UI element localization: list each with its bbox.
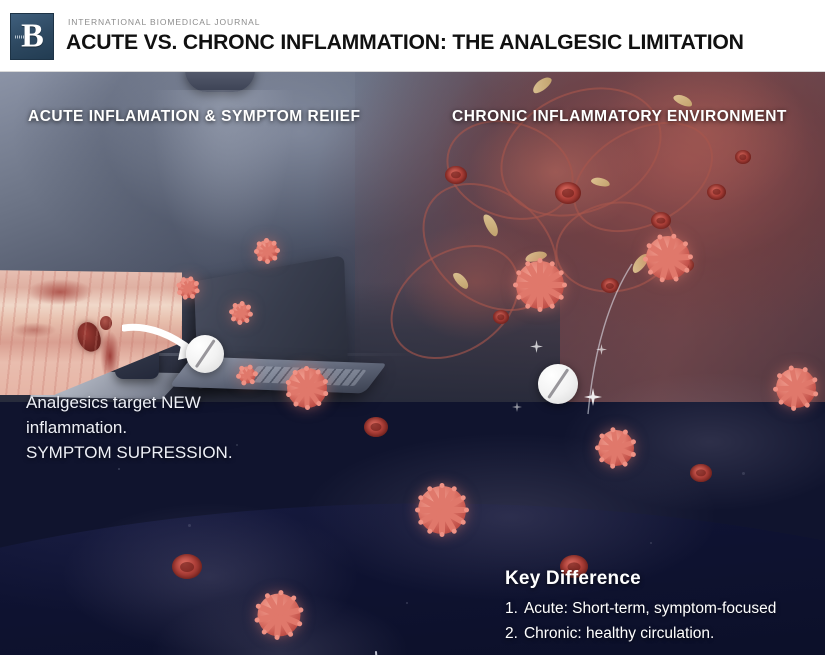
list-item-text: Chronic: healthy circulation.: [524, 625, 714, 642]
red-blood-cell: [707, 184, 726, 200]
body-copy-line-1: Analgesics target NEW: [26, 390, 233, 415]
virus-particle: [246, 230, 288, 272]
body-copy-line-2: inflammation.: [26, 415, 233, 440]
bacteria-icon: [530, 74, 553, 95]
red-blood-cell: [555, 182, 581, 204]
dust-particle: [118, 468, 120, 470]
pill-tablet-icon: [186, 335, 224, 373]
list-item-text: Acute: Short-term, symptom-focused: [524, 600, 776, 617]
page-title: ACUTE VS. CHRONC INFLAMMATION: THE ANALG…: [66, 30, 744, 55]
blood-vessel-small: [100, 316, 112, 330]
red-blood-cell: [690, 464, 712, 482]
body-copy-line-3: SYMPTOM SUPRESSION.: [26, 440, 233, 465]
virus-particle-large: [492, 237, 588, 333]
dust-particle: [650, 542, 652, 544]
pointer-line: [580, 262, 640, 422]
key-difference-list: 1.Acute: Short-term, symptom-focused 2.C…: [505, 596, 825, 646]
chronic-panel-label: CHRONIC INFLAMMATORY ENVIRONMENT: [452, 108, 787, 126]
dust-particle: [406, 602, 408, 604]
virus-particle: [230, 358, 264, 392]
key-difference-block: Key Difference 1.Acute: Short-term, symp…: [505, 568, 825, 646]
acute-panel-label: ACUTE INFLAMATION & SYMPTOM REIIEF: [28, 108, 360, 126]
virus-particle: [580, 412, 652, 484]
key-difference-title: Key Difference: [505, 568, 825, 590]
virus-particle-large: [268, 349, 346, 427]
virus-particle-large: [394, 462, 490, 558]
virus-particle: [222, 294, 260, 332]
red-blood-cell: [735, 150, 751, 164]
dust-particle: [236, 444, 238, 446]
pill-tablet-icon: [538, 364, 578, 404]
blood-vessel: [74, 320, 103, 355]
bacteria-icon: [672, 92, 694, 108]
dust-particle: [188, 524, 191, 527]
journal-name: INTERNATIONAL BIOMEDICAL JOURNAL: [68, 17, 754, 27]
red-blood-cell: [364, 417, 388, 437]
red-blood-cell: [172, 554, 202, 579]
virus-particle: [168, 268, 208, 308]
virus-particle: [756, 348, 825, 428]
list-item-number: 2.: [505, 625, 518, 642]
infographic-page: B INTERNATIONAL BIOMEDICAL JOURNAL ACUTE…: [0, 0, 825, 655]
desk-lamp-icon: [185, 72, 255, 92]
virus-particle-large: [236, 572, 322, 655]
red-blood-cell: [445, 166, 467, 184]
journal-logo: B: [10, 13, 54, 60]
list-item-number: 1.: [505, 600, 518, 617]
dust-particle: [742, 472, 745, 475]
list-item: 2.Chronic: healthy circulation.: [505, 621, 825, 646]
header-bar: B INTERNATIONAL BIOMEDICAL JOURNAL ACUTE…: [0, 0, 825, 72]
curved-arrow-up-right-icon: [370, 650, 490, 655]
illustration-scene: ACUTE INFLAMATION & SYMPTOM REIIEF CHRON…: [0, 72, 825, 655]
analgesic-body-copy: Analgesics target NEW inflammation. SYMP…: [26, 390, 233, 465]
logo-letter: B: [11, 19, 53, 53]
list-item: 1.Acute: Short-term, symptom-focused: [505, 596, 825, 621]
